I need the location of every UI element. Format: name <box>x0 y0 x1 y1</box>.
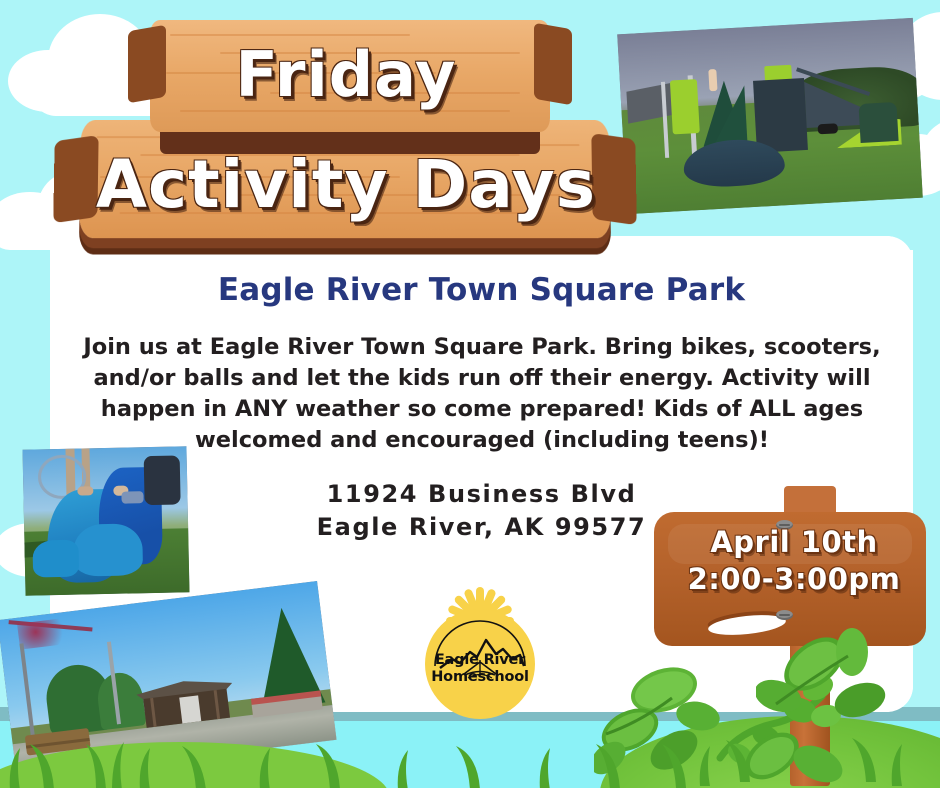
wooden-title-sign: Friday Activity Days <box>72 8 620 270</box>
title-line-friday: Friday <box>72 38 620 111</box>
event-time: 2:00-3:00pm <box>648 561 940 598</box>
logo-name-line-2: Homeschool <box>372 669 588 686</box>
playground-photo <box>617 18 923 214</box>
flyer-canvas: Friday Activity Days Eagle River Town Sq… <box>0 0 940 788</box>
body-paragraph: Join us at Eagle River Town Square Park.… <box>58 332 906 456</box>
title-line-activity-days: Activity Days <box>72 146 620 223</box>
logo-name-line-1: Eagle River <box>372 652 588 669</box>
event-date: April 10th <box>648 524 940 561</box>
grass-tufts-icon <box>0 700 940 788</box>
date-text: April 10th 2:00-3:00pm <box>648 524 940 598</box>
venue-heading: Eagle River Town Square Park <box>50 272 913 308</box>
logo-name: Eagle River Homeschool <box>372 652 588 686</box>
